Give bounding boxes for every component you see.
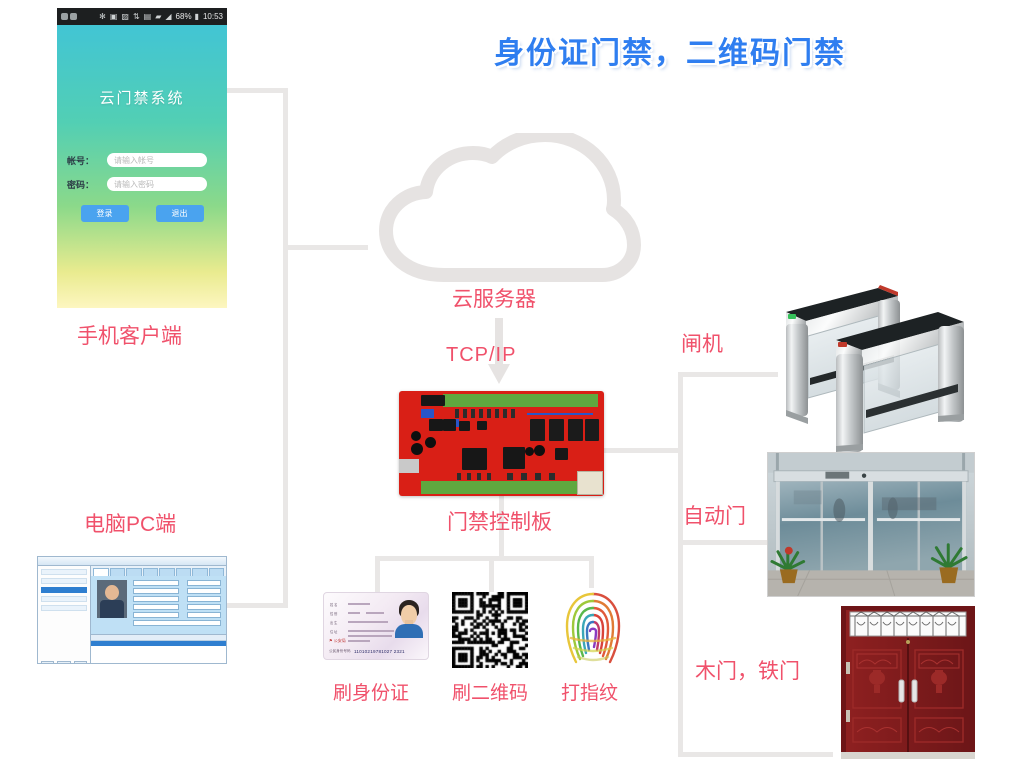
label-fingerprint: 打指纹 bbox=[561, 678, 618, 705]
turnstile-icon bbox=[768, 278, 998, 453]
account-input[interactable]: 请输入帐号 bbox=[107, 153, 207, 167]
login-button-row: 登录 退出 bbox=[57, 205, 227, 222]
pc-tab[interactable] bbox=[93, 568, 109, 576]
status-left-icons bbox=[61, 13, 77, 20]
password-field-row: 密码： 请输入密码 bbox=[67, 177, 227, 191]
label-wood-iron-door: 木门，铁门 bbox=[695, 655, 800, 685]
smartphone-mockup: ✻ ▣ ▨ ⇅ ▤ ▰ ◢ 68% ▮ 10:53 云门禁系统 帐号： 请输入帐… bbox=[57, 8, 227, 308]
pc-left-row bbox=[41, 605, 87, 611]
pc-tab-strip bbox=[91, 566, 226, 576]
bluetooth-icon: ✻ bbox=[99, 12, 107, 21]
status-right-icons: ✻ ▣ ▨ ⇅ ▤ ▰ ◢ 68% ▮ 10:53 bbox=[99, 12, 223, 21]
connector-right-trunk bbox=[678, 372, 683, 752]
pc-form-field[interactable] bbox=[187, 604, 221, 610]
pc-tab[interactable] bbox=[192, 568, 208, 576]
pc-form-field[interactable] bbox=[187, 588, 221, 594]
pc-left-row bbox=[41, 578, 87, 584]
pc-tab[interactable] bbox=[143, 568, 159, 576]
phone-status-bar: ✻ ▣ ▨ ⇅ ▤ ▰ ◢ 68% ▮ 10:53 bbox=[57, 8, 227, 25]
label-scan-qr: 刷二维码 bbox=[452, 678, 528, 705]
pc-button[interactable] bbox=[74, 661, 87, 664]
pc-left-row bbox=[41, 596, 87, 602]
label-pc-client: 电脑PC端 bbox=[84, 508, 176, 538]
password-label: 密码： bbox=[67, 178, 107, 191]
status-clock: 10:53 bbox=[203, 12, 223, 21]
pc-button[interactable] bbox=[57, 661, 70, 664]
page-title: 身份证门禁，二维码门禁 bbox=[450, 28, 890, 72]
id-photo bbox=[395, 600, 423, 638]
label-auto-door: 自动门 bbox=[683, 500, 746, 530]
pc-form-field[interactable] bbox=[133, 580, 179, 586]
connector-to-qr bbox=[489, 556, 494, 592]
pc-tab[interactable] bbox=[110, 568, 126, 576]
pc-left-row bbox=[41, 587, 87, 593]
diagram-canvas: 身份证门禁，二维码门禁 ✻ ▣ ▨ ⇅ ▤ ▰ ◢ 68 bbox=[0, 0, 1024, 768]
qr-code-icon bbox=[452, 592, 528, 668]
id-number: 11010219781027 2321 bbox=[354, 649, 405, 654]
pc-tab[interactable] bbox=[176, 568, 192, 576]
label-protocol: TCP/IP bbox=[446, 344, 516, 367]
app-icon bbox=[70, 13, 77, 20]
fingerprint-icon bbox=[557, 586, 629, 670]
wifi-icon: ▰ bbox=[155, 12, 162, 21]
pc-form-field[interactable] bbox=[133, 588, 179, 594]
battery-percent: 68% bbox=[176, 12, 192, 21]
app-title: 云门禁系统 bbox=[57, 87, 227, 108]
sync-icon: ⇅ bbox=[133, 12, 141, 21]
sim-icon: ▤ bbox=[144, 12, 153, 21]
pc-tab[interactable] bbox=[209, 568, 225, 576]
label-mobile-client: 手机客户端 bbox=[77, 320, 182, 350]
label-turnstile: 闸机 bbox=[681, 328, 723, 358]
pc-form-field[interactable] bbox=[187, 580, 221, 586]
pc-tab[interactable] bbox=[159, 568, 175, 576]
wooden-door-icon bbox=[833, 602, 983, 762]
connector-credential-bus bbox=[375, 556, 593, 561]
pc-window-body bbox=[38, 566, 226, 664]
pc-left-pane bbox=[38, 566, 91, 664]
pc-form-field[interactable] bbox=[187, 612, 221, 618]
control-board-icon bbox=[399, 391, 604, 496]
connector-left-trunk bbox=[283, 88, 288, 608]
emblem-icon: ⚑ 公安局 bbox=[329, 638, 346, 644]
signal-icon: ◢ bbox=[165, 12, 172, 21]
cloud-icon bbox=[372, 133, 642, 283]
id-card-icon: 姓 名 性 别 出 生 住 址 ⚑ 公安局 公民身份号码 11010219781… bbox=[323, 592, 429, 660]
pc-form-field[interactable] bbox=[187, 596, 221, 602]
pc-grid-selected-row[interactable] bbox=[91, 641, 226, 646]
battery-icon: ▮ bbox=[195, 12, 200, 21]
pc-form-field[interactable] bbox=[133, 612, 179, 618]
login-form: 帐号： 请输入帐号 密码： 请输入密码 bbox=[57, 153, 227, 191]
pc-software-screenshot bbox=[37, 556, 227, 664]
connector-trunk-to-cloud bbox=[283, 245, 368, 250]
pc-titlebar bbox=[38, 557, 226, 566]
connector-to-fingerprint bbox=[589, 556, 594, 588]
pc-button[interactable] bbox=[41, 661, 54, 664]
connector-to-wooddoor bbox=[678, 752, 838, 757]
person-photo bbox=[97, 580, 127, 618]
id-number-label: 公民身份号码 bbox=[329, 649, 351, 654]
connector-to-autodoor bbox=[678, 540, 778, 545]
label-control-board: 门禁控制板 bbox=[447, 506, 552, 536]
label-swipe-id-card: 刷身份证 bbox=[333, 678, 409, 705]
pc-form-field[interactable] bbox=[133, 620, 221, 626]
pc-left-buttons bbox=[38, 658, 90, 664]
notification-icon bbox=[61, 13, 68, 20]
pc-form-field[interactable] bbox=[133, 596, 179, 602]
pc-left-row bbox=[41, 569, 87, 575]
logout-button[interactable]: 退出 bbox=[156, 205, 204, 222]
label-cloud-server: 云服务器 bbox=[452, 283, 536, 313]
pc-tab[interactable] bbox=[126, 568, 142, 576]
connector-to-idcard bbox=[375, 556, 380, 592]
automatic-door-icon bbox=[767, 452, 975, 597]
connector-board-right bbox=[604, 448, 681, 453]
alarm-icon: ▣ bbox=[110, 12, 119, 21]
pc-record-grid bbox=[91, 634, 226, 661]
mute-icon: ▨ bbox=[121, 12, 130, 21]
pc-form-field[interactable] bbox=[133, 604, 179, 610]
pc-person-form bbox=[91, 576, 226, 634]
account-field-row: 帐号： 请输入帐号 bbox=[67, 153, 227, 167]
pc-right-pane bbox=[91, 566, 226, 664]
login-button[interactable]: 登录 bbox=[81, 205, 129, 222]
account-label: 帐号： bbox=[67, 154, 107, 167]
connector-to-turnstile bbox=[678, 372, 778, 377]
password-input[interactable]: 请输入密码 bbox=[107, 177, 207, 191]
